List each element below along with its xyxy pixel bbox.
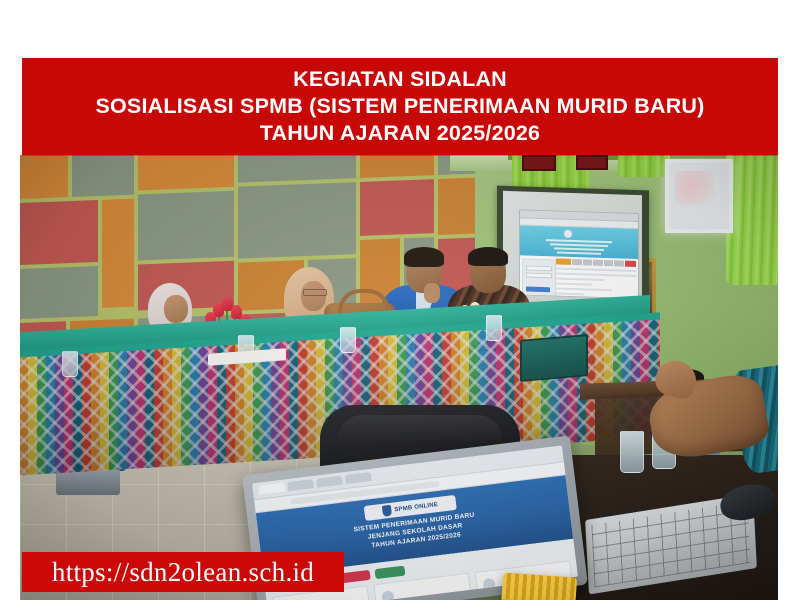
banner-line-3: TAHUN AJARAN 2025/2026 [260,120,540,147]
window [665,159,733,233]
spmb-brand-text: SPMB ONLINE [394,502,438,513]
wall-frame [522,155,556,171]
website-url-text: https://sdn2olean.sch.id [52,557,314,587]
green-curtain [618,155,670,177]
snack-packet: KUACI ZO [493,573,577,600]
banner-line-1: KEGIATAN SIDALAN [293,66,507,93]
teal-laptop [520,334,588,382]
website-url-watermark: https://sdn2olean.sch.id [22,552,344,592]
drinking-glass [486,315,502,341]
water-glass [620,431,644,473]
wall-frame [576,155,608,170]
title-banner: KEGIATAN SIDALAN SOSIALISASI SPMB (SISTE… [22,58,778,155]
banner-line-2: SOSIALISASI SPMB (SISTEM PENERIMAAN MURI… [95,93,704,120]
drinking-glass [62,351,78,377]
screenshot-canvas: SPMB ONLINE SISTEM PENERIMAAN MURID BARU… [0,0,800,600]
event-photograph: SPMB ONLINE SISTEM PENERIMAAN MURID BARU… [20,155,778,600]
drinking-glass [340,327,356,353]
projected-browser-window [519,209,639,299]
green-curtain [726,155,778,285]
